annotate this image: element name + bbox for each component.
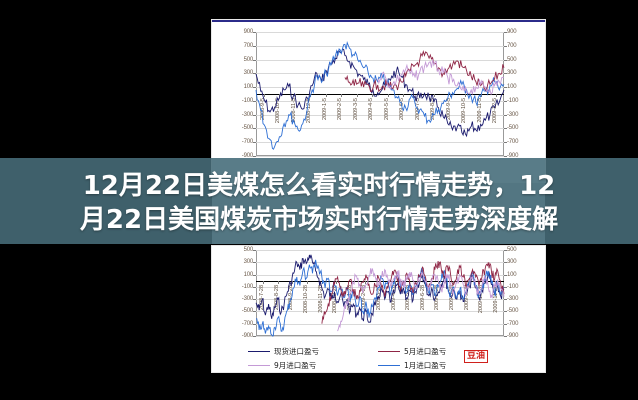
y-axis-tick-label: 500 xyxy=(244,247,253,253)
y-axis-tick-label-right: -100 xyxy=(507,284,518,290)
screenshot-root: 900900700700500500300300100100-100-100-3… xyxy=(0,0,638,400)
axis-tickmark xyxy=(504,60,507,61)
gridline xyxy=(256,156,504,157)
y-axis-tick-label-right: 700 xyxy=(507,43,516,49)
y-axis-tick-label: -900 xyxy=(242,333,253,339)
legend-swatch-icon xyxy=(378,365,400,366)
y-axis-tick-label: 300 xyxy=(244,70,253,76)
y-axis-tick-label: 100 xyxy=(244,272,253,278)
axis-tickmark xyxy=(504,46,507,47)
axis-tickmark xyxy=(504,73,507,74)
axis-tickmark xyxy=(504,299,507,300)
y-axis-tick-label-right: 500 xyxy=(507,57,516,63)
axis-tickmark xyxy=(504,250,507,251)
axis-tickmark xyxy=(504,311,507,312)
y-axis-tick-label-right: -700 xyxy=(507,321,518,327)
chart-series-layer xyxy=(256,32,504,156)
y-axis-tick-label: -700 xyxy=(242,139,253,145)
y-axis-tick-label-right: -900 xyxy=(507,333,518,339)
legend-swatch-icon xyxy=(248,365,270,366)
axis-tickmark xyxy=(504,128,507,129)
y-axis-tick-label-right: 300 xyxy=(507,259,516,265)
y-axis-tick-label-right: -100 xyxy=(507,98,518,104)
y-axis-tick-label: -300 xyxy=(242,296,253,302)
series-line xyxy=(256,260,504,336)
title-band xyxy=(0,158,638,244)
axis-tickmark xyxy=(504,115,507,116)
y-axis-tick-label-right: 900 xyxy=(507,29,516,35)
axis-tickmark xyxy=(504,324,507,325)
y-axis-tick-label: -300 xyxy=(242,112,253,118)
y-axis-tick-label-right: 100 xyxy=(507,84,516,90)
y-axis-tick-label: 700 xyxy=(244,43,253,49)
bottom-chart-plot-area: 500500300300100100-100-100-300-300-500-5… xyxy=(256,250,504,336)
brand-badge-douyou: 豆油 xyxy=(464,350,488,363)
legend-item-label: 现货进口盈亏 xyxy=(274,346,319,357)
axis-tickmark xyxy=(504,101,507,102)
legend-item-label: 1月进口盈亏 xyxy=(404,360,446,371)
axis-tickmark xyxy=(504,87,507,88)
legend-item: 5月进口盈亏 xyxy=(378,344,508,358)
y-axis-tick-label: 100 xyxy=(244,84,253,90)
series-line xyxy=(345,52,504,92)
legend-swatch-icon xyxy=(378,351,400,352)
legend-item-label: 9月进口盈亏 xyxy=(274,360,316,371)
y-axis-tick-label-right: 300 xyxy=(507,70,516,76)
axis-tickmark xyxy=(504,275,507,276)
axis-tickmark xyxy=(504,336,507,337)
chart-series-layer xyxy=(256,250,504,336)
axis-tickmark xyxy=(504,262,507,263)
top-chart-plot-area: 900900700700500500300300100100-100-100-3… xyxy=(256,32,504,156)
legend-item: 9月进口盈亏 xyxy=(248,358,378,372)
y-axis-tick-label-right: 100 xyxy=(507,272,516,278)
y-axis-tick-label: 900 xyxy=(244,29,253,35)
axis-tickmark xyxy=(504,156,507,157)
gridline xyxy=(256,336,504,337)
axis-tickmark xyxy=(253,336,256,337)
bottom-chart-panel: 500500300300100100-100-100-300-300-500-5… xyxy=(212,246,545,372)
y-axis-tick-label: 500 xyxy=(244,57,253,63)
y-axis-tick-label: -700 xyxy=(242,321,253,327)
y-axis-tick-label: -500 xyxy=(242,308,253,314)
legend-item: 现货进口盈亏 xyxy=(248,344,378,358)
y-axis-tick-label-right: 500 xyxy=(507,247,516,253)
y-axis-tick-label-right: -500 xyxy=(507,308,518,314)
y-axis-tick-label: -100 xyxy=(242,98,253,104)
y-axis-tick-label: 300 xyxy=(244,259,253,265)
legend-item-label: 5月进口盈亏 xyxy=(404,346,446,357)
axis-tickmark xyxy=(253,156,256,157)
y-axis-tick-label: -100 xyxy=(242,284,253,290)
y-axis-tick-label: -500 xyxy=(242,125,253,131)
y-axis-tick-label-right: -500 xyxy=(507,125,518,131)
legend-item: 1月进口盈亏 xyxy=(378,358,508,372)
y-axis-tick-label-right: -300 xyxy=(507,112,518,118)
bottom-chart-card: 500500300300100100-100-100-300-300-500-5… xyxy=(212,246,545,372)
y-axis-tick-label-right: -300 xyxy=(507,296,518,302)
axis-tickmark xyxy=(504,287,507,288)
legend-swatch-icon xyxy=(248,351,270,352)
y-axis-tick-label-right: -700 xyxy=(507,139,518,145)
axis-tickmark xyxy=(504,142,507,143)
axis-tickmark xyxy=(504,32,507,33)
